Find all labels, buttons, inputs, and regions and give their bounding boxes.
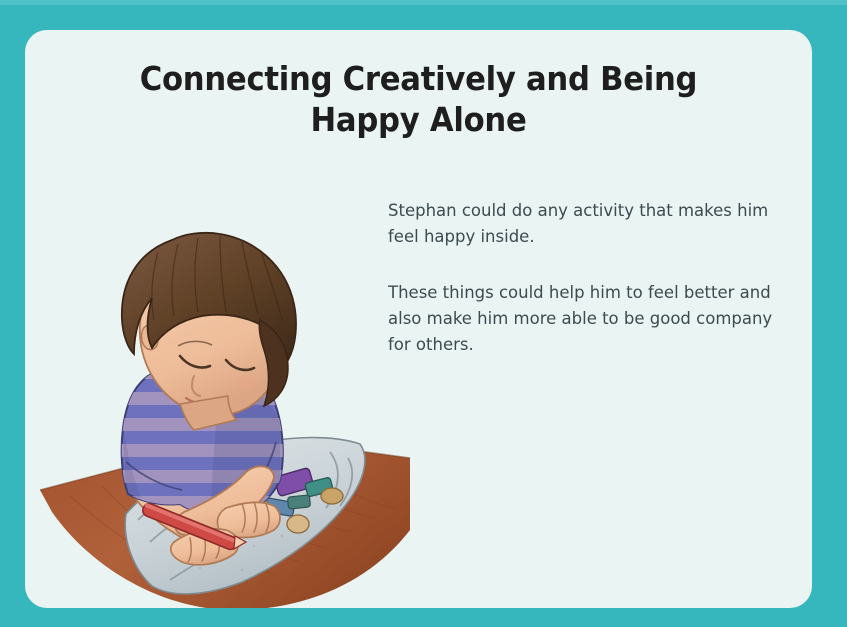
page-title-line-2: Happy Alone (108, 99, 728, 140)
boy-cheek (234, 375, 258, 389)
illustration-svg (30, 190, 410, 608)
page-title-line-1: Connecting Creatively and Being (108, 58, 728, 99)
page-title: Connecting Creatively and Being Happy Al… (108, 58, 728, 140)
body-paragraph-2: These things could help him to feel bett… (388, 280, 778, 358)
boy-drawing-illustration (30, 190, 410, 608)
slide-card: Connecting Creatively and Being Happy Al… (25, 30, 812, 608)
body-paragraph-1: Stephan could do any activity that makes… (388, 198, 778, 250)
frame-top-highlight (0, 0, 847, 5)
body-text-block: Stephan could do any activity that makes… (388, 198, 778, 358)
slide-frame: Connecting Creatively and Being Happy Al… (0, 0, 847, 627)
